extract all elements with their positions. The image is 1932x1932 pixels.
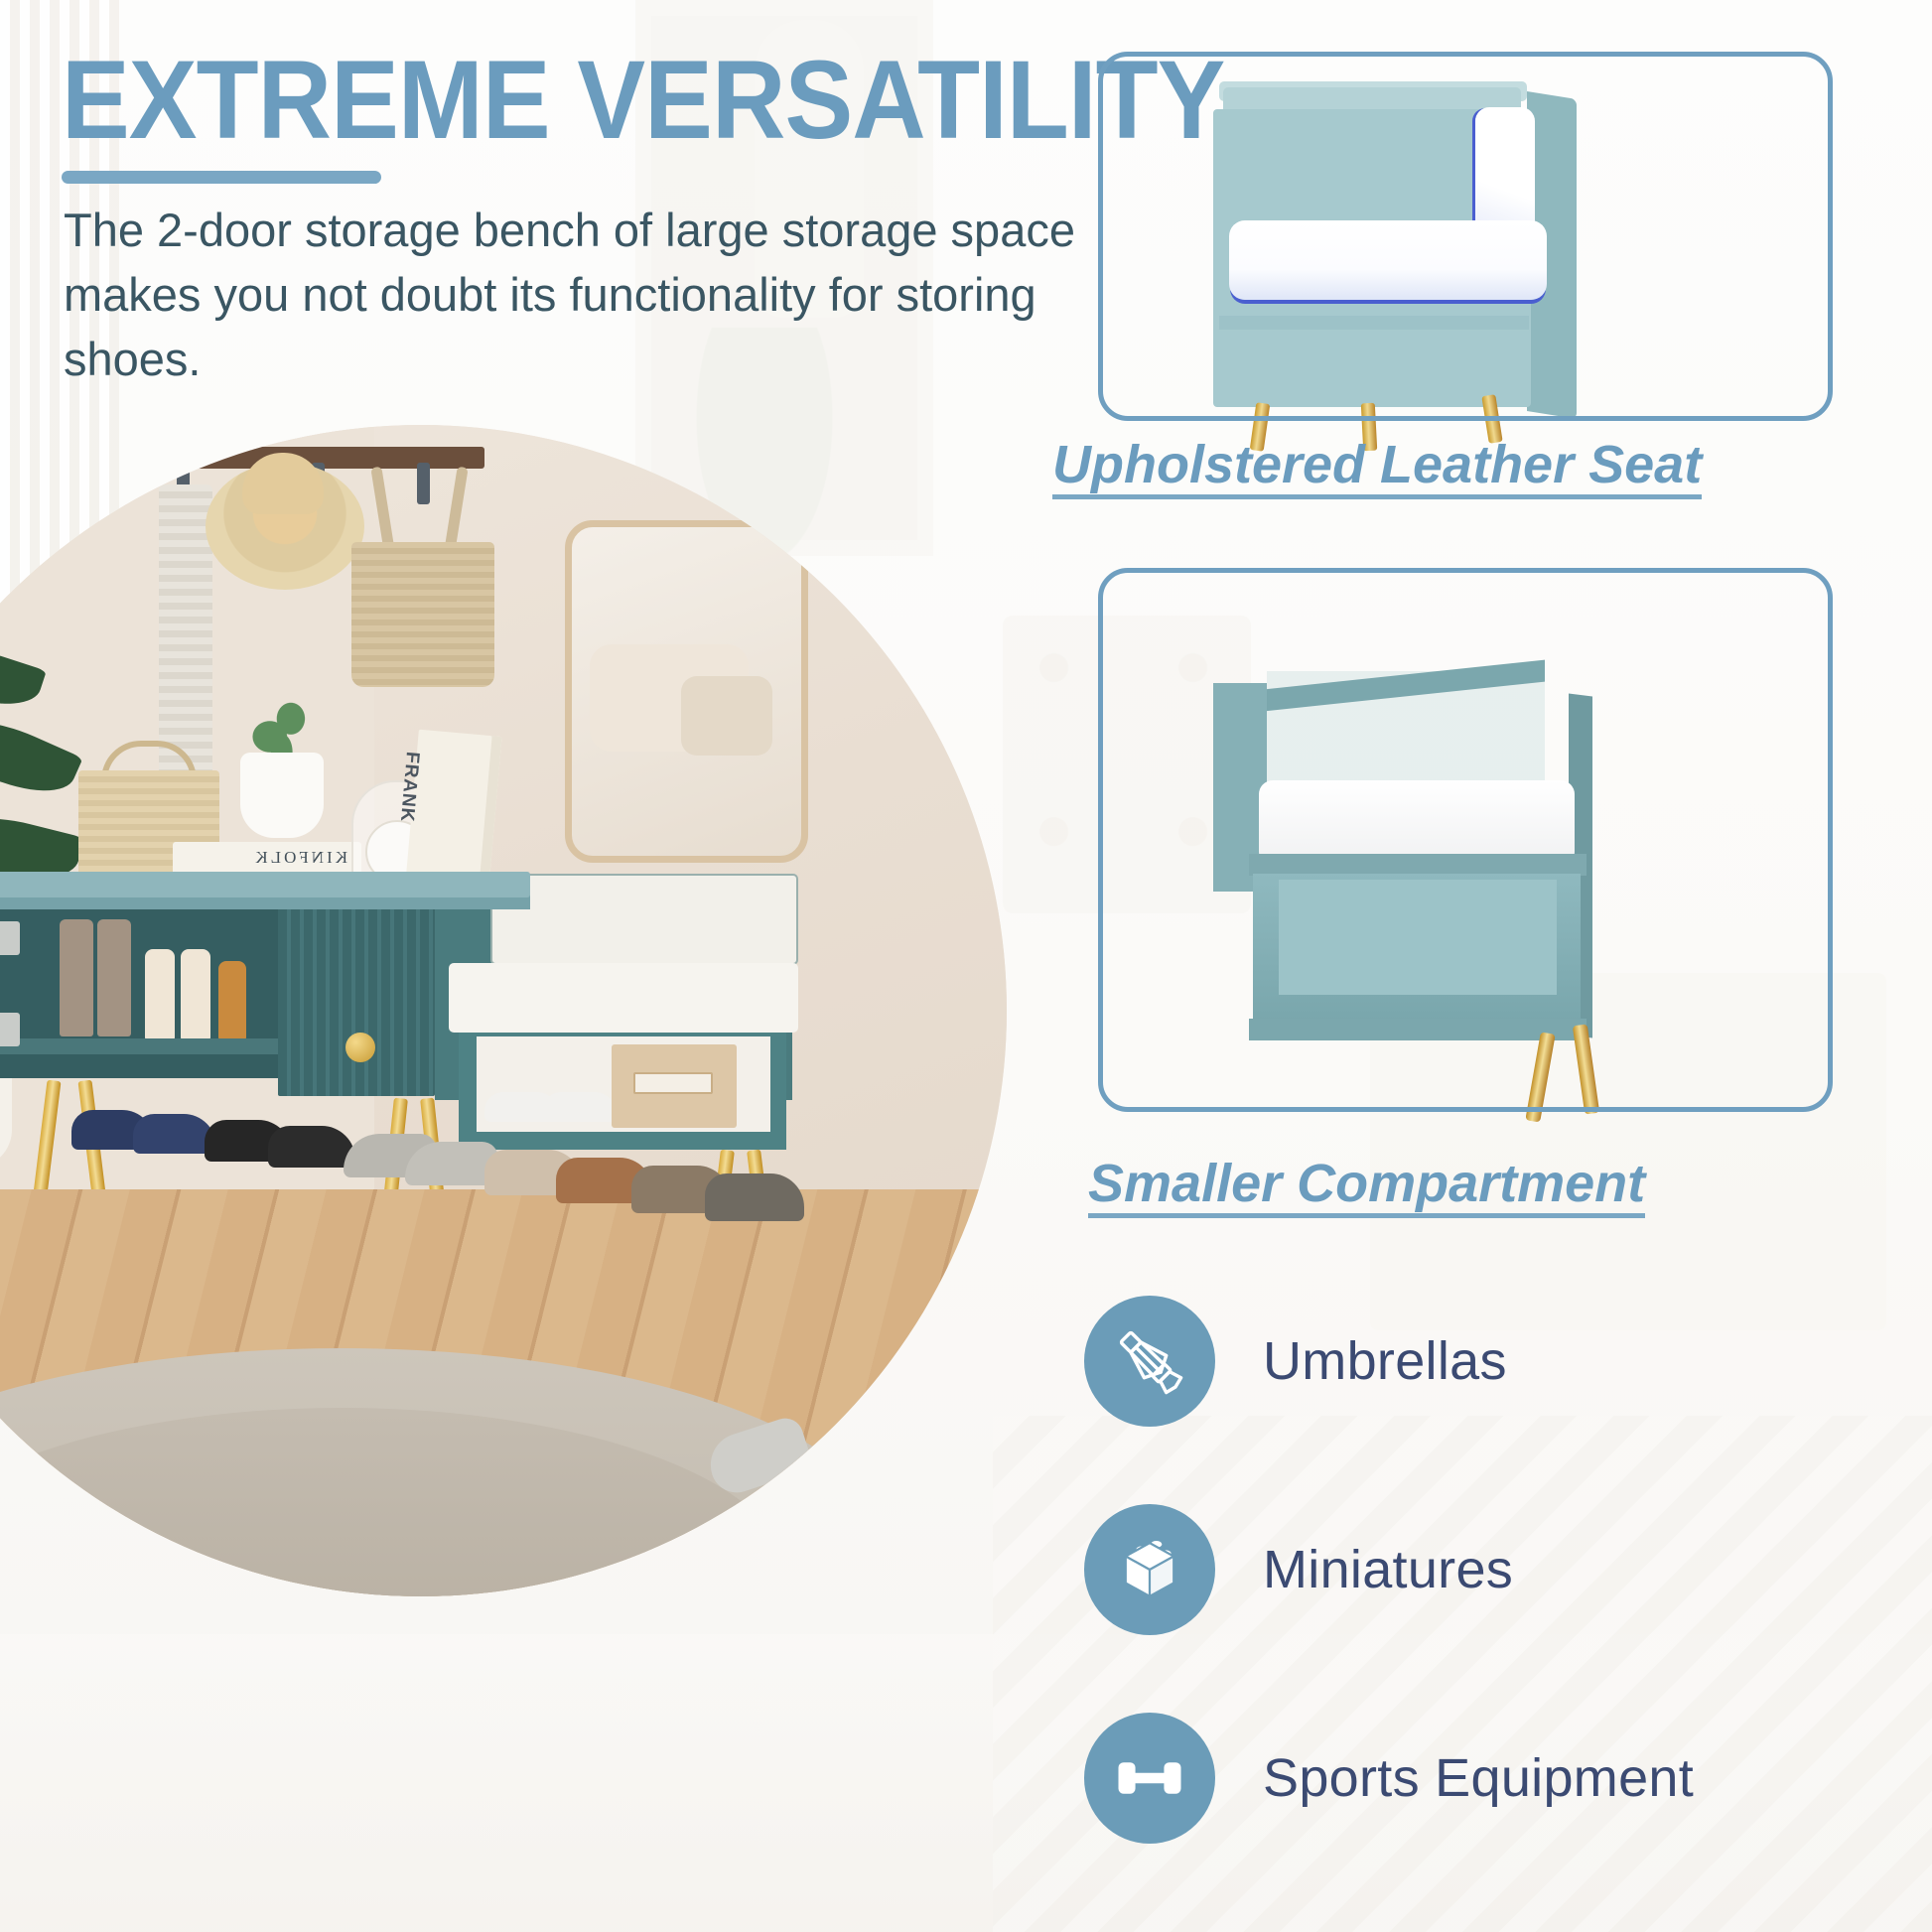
inset-frame-smaller-compartment [1098,568,1833,1112]
feature-item-sports-equipment: Sports Equipment [1084,1674,1924,1882]
feature-item-umbrellas: Umbrellas [1084,1257,1924,1465]
hero-storage-box-label [633,1072,713,1094]
feature-label-umbrellas: Umbrellas [1263,1330,1507,1392]
hero-door-hinge [0,1013,20,1046]
hero-white-sneaker [542,1092,618,1122]
hero-boot [97,919,131,1036]
hero-bench-right-door [278,901,435,1096]
hero-bench-top-surface [0,872,530,897]
hero-door-hinge [0,921,20,955]
hero-bench-shelf [0,1038,278,1054]
toy-brick-icon [1107,1527,1192,1612]
hero-wall-mirror [565,520,808,863]
feature-list: Umbrellas Miniatures [1084,1257,1924,1882]
toy-brick-icon-badge [1084,1504,1215,1635]
hero-hanging-scarf [159,484,212,782]
hero-heel-shoe [218,961,246,1040]
hero-mirror-reflection-cushion [681,676,772,756]
inset1-caption: Upholstered Leather Seat [1052,435,1702,499]
hero-floor-sneaker [705,1173,804,1221]
subheadline-text: The 2-door storage bench of large storag… [64,199,1086,392]
inset2-caption: Smaller Compartment [1088,1154,1645,1218]
dumbbell-icon-badge [1084,1713,1215,1844]
feature-label-sports-equipment: Sports Equipment [1263,1747,1694,1809]
umbrella-icon-badge [1084,1296,1215,1427]
hero-succulent-pot [240,753,324,838]
hero-heel-shoe [145,949,175,1040]
hero-floor-shoe [268,1126,355,1168]
feature-item-miniatures: Miniatures [1084,1465,1924,1674]
hero-door-knob [345,1033,375,1062]
dumbbell-icon [1108,1736,1191,1820]
page-title: EXTREME VERSATILITY [62,44,984,157]
title-underline-rule [62,171,381,184]
feature-label-miniatures: Miniatures [1263,1539,1513,1600]
inset-frame-upholstered-seat [1098,52,1833,421]
hero-bench-seat-cushion [449,963,798,1033]
hero-boot [60,919,93,1036]
hero-bench-backrest [490,874,798,965]
hero-coat-hook [417,463,430,504]
headline-block: EXTREME VERSATILITY [62,44,1064,184]
hero-book-title: KINFOLK [189,848,347,868]
hero-woven-bag [351,542,494,687]
hero-lifestyle-photo: KINFOLK FRANK [0,425,1007,1596]
umbrella-icon [1108,1319,1191,1403]
hero-heel-shoe [181,949,210,1040]
